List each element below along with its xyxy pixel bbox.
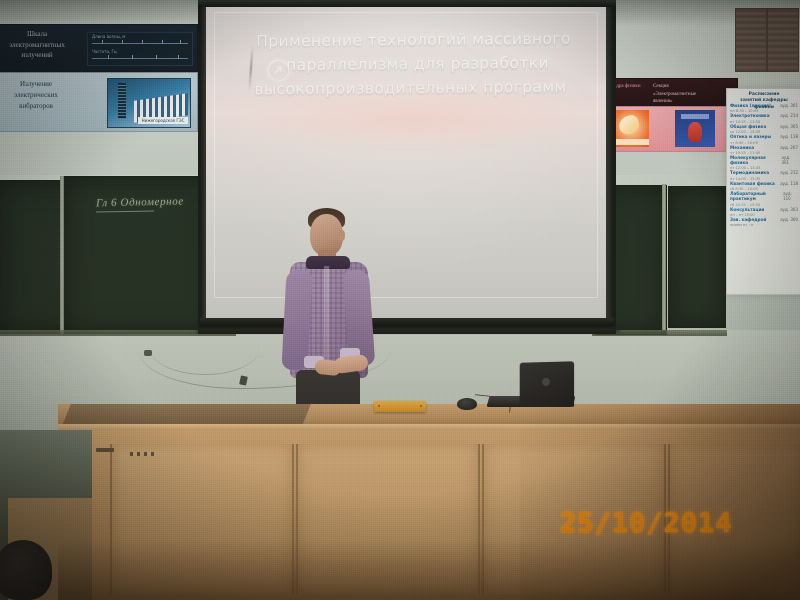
schedule-row-name: Термодинамика <box>730 170 769 175</box>
schedule-row-subtext: приём вт, чт <box>730 223 798 227</box>
schedule-row: Физика (лекция)ауд. 301 <box>730 103 798 108</box>
schedule-row: Молекулярная физикаауд. 301 <box>730 155 798 165</box>
schedule-row: Консультацииауд. 303 <box>730 207 798 212</box>
schedule-row-value: ауд. 214 <box>780 113 798 118</box>
slide-title-line-1: Применение технологий массивного <box>244 26 583 53</box>
schedule-row-value: ауд. 303 <box>780 207 798 212</box>
circle-arrow-up-right-icon <box>268 60 289 81</box>
schedule-row-name: Физика (лекция) <box>730 103 771 108</box>
yellow-box-screw-left <box>378 405 380 407</box>
chalkboard-divider-left <box>60 176 64 334</box>
chalkboard-right-panel-2 <box>668 186 726 328</box>
poster-left-top-title: Шкала электромагнитных излучений <box>1 29 73 61</box>
blind-divider <box>766 9 768 71</box>
magnetic-caption-bar <box>681 114 709 119</box>
slide-title-line-2: параллелизма для разработки <box>252 51 583 78</box>
poster-right-image-magnetic <box>675 110 715 147</box>
schedule-row: Лабораторный практикумауд. 110 <box>730 191 798 201</box>
poster-electric-vibrators: Излучение электрических вибраторов Нижег… <box>0 72 198 132</box>
schedule-row-name: Электротехника <box>730 113 770 118</box>
laptop-icon <box>520 361 574 407</box>
dark-object-foreground <box>0 540 52 600</box>
lectern-lip <box>96 448 114 452</box>
schedule-row-value: ауд. 305 <box>780 124 798 129</box>
window-blind <box>735 8 799 72</box>
poster-schedule: Расписание занятий кафедры физики Физика… <box>726 88 800 295</box>
schedule-row-value: ауд. 301 <box>781 155 798 165</box>
schedule-row-name: Лабораторный практикум <box>730 191 783 201</box>
schedule-rows: Физика (лекция)ауд. 301пн 8:30 – 10:05Эл… <box>730 103 798 227</box>
schedule-row: Термодинамикаауд. 212 <box>730 170 798 175</box>
schedule-row: Оптика и лазерыауд. 118 <box>730 134 798 139</box>
schedule-row-value: ауд. 118 <box>780 134 798 139</box>
schedule-row-value: ауд. 110 <box>783 191 798 201</box>
schedule-row-name: Квантовая физика <box>730 181 775 186</box>
schedule-row-value: ауд. 212 <box>780 170 798 175</box>
presenter-person <box>268 208 388 433</box>
schedule-row-value: ауд. 301 <box>780 103 798 108</box>
screen-right-edge <box>606 4 614 324</box>
laptop-logo <box>542 378 550 386</box>
yellow-box-screw-right <box>420 405 422 407</box>
screen-left-edge <box>200 4 206 324</box>
schedule-row-value: ауд. 118 <box>780 181 798 186</box>
schedule-row-value: ауд. 300 <box>780 217 798 222</box>
screen-bottom-shadow <box>196 328 620 333</box>
poster-left-bottom-title: Излучение электрических вибраторов <box>0 79 75 112</box>
lectern-screws <box>130 452 158 456</box>
schedule-row: Механикаауд. 207 <box>730 145 798 150</box>
schedule-row: Квантовая физикаауд. 118 <box>730 181 798 186</box>
poster-right-images <box>596 106 738 152</box>
poster-axis2-label: Частота, Гц <box>92 49 117 54</box>
presenter-ear <box>338 230 345 241</box>
schedule-row-name: Молекулярная физика <box>730 155 781 165</box>
photograph: Шкала электромагнитных излучений Длина в… <box>0 0 800 600</box>
tower-shape <box>118 83 126 119</box>
screen-roller-housing <box>198 0 616 7</box>
schedule-row: Зав. кафедройауд. 300 <box>730 217 798 222</box>
schedule-row-name: Общая физика <box>730 124 766 129</box>
schedule-row-name: Консультации <box>730 207 764 212</box>
lectern-top <box>62 404 311 426</box>
slide-title-line-3: высокопроизводительных программ <box>238 75 583 102</box>
poster-image-caption: Нижегородская ГЭС <box>138 117 188 124</box>
schedule-row: Общая физикаауд. 305 <box>730 124 798 129</box>
chalkboard-divider-right <box>662 184 666 330</box>
schedule-row-name: Механика <box>730 145 754 150</box>
poster-axis1-label: Длина волны, м <box>92 34 125 39</box>
poster-left-bottom-image: Нижегородская ГЭС <box>107 78 191 128</box>
schedule-row-name: Зав. кафедрой <box>730 217 766 222</box>
schedule-row: Электротехникаауд. 214 <box>730 113 798 118</box>
schedule-row-value: ауд. 207 <box>780 145 798 150</box>
poster-left-top-diagram: Длина волны, м Частота, Гц <box>87 32 193 66</box>
flame-caption-bar <box>615 139 649 145</box>
computer-mouse-icon <box>457 398 477 410</box>
slide-title: Применение технологий массивного паралле… <box>238 26 583 101</box>
magnetic-figure-shape <box>688 122 702 142</box>
poster-right-header-right: Секция «Электромагнитные явления» <box>653 83 713 106</box>
schedule-row-name: Оптика и лазеры <box>730 134 771 139</box>
desk-bottom-shadow <box>58 540 800 600</box>
camera-date-stamp: 25/10/2014 <box>560 508 733 539</box>
flame-shape <box>617 113 642 136</box>
yellow-box <box>374 401 426 412</box>
poster-electromagnetic-scale: Шкала электромагнитных излучений Длина в… <box>0 24 198 72</box>
